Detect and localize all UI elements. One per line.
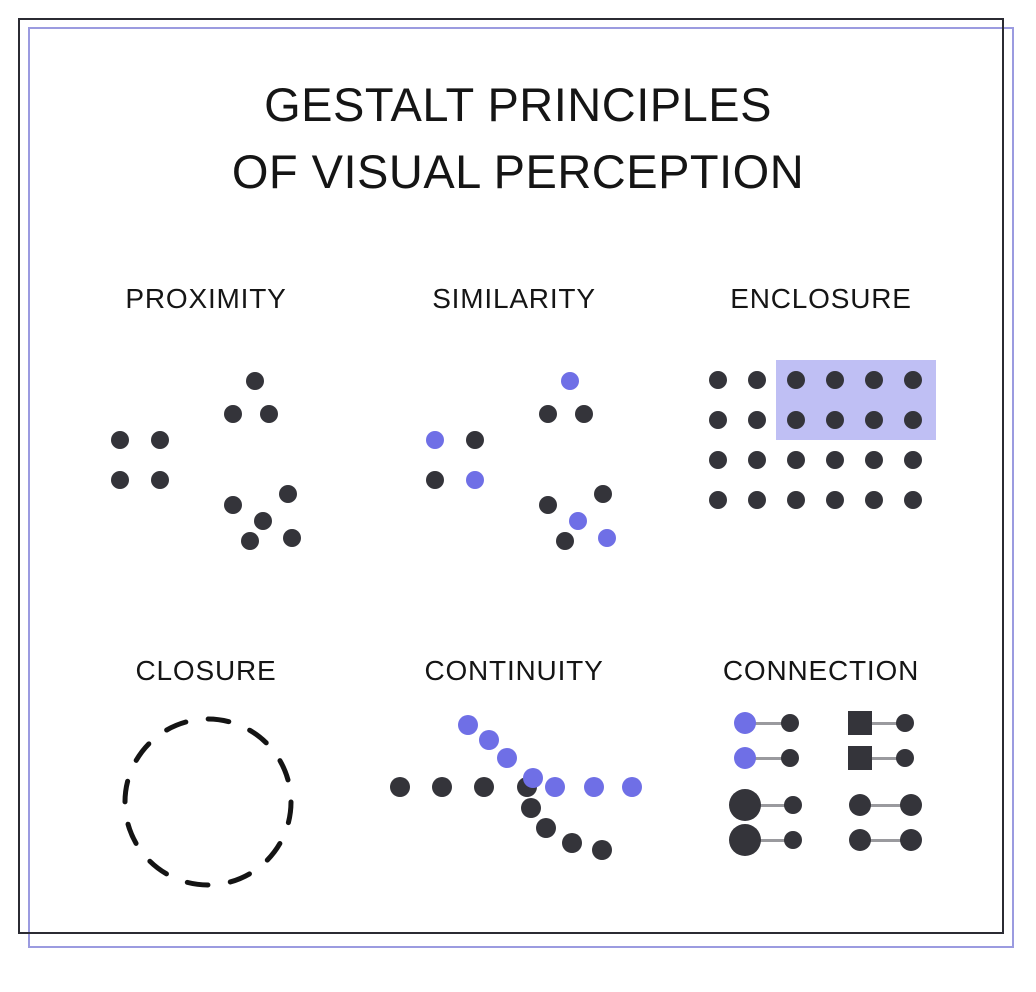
dot-dark xyxy=(539,496,557,514)
dot-dark xyxy=(865,411,883,429)
dot-dark xyxy=(390,777,410,797)
title-line-1: GESTALT PRINCIPLES xyxy=(0,72,1036,139)
square-dark xyxy=(848,746,872,770)
dot-dark xyxy=(279,485,297,503)
section-label-enclosure: ENCLOSURE xyxy=(621,283,1021,315)
dot-dark xyxy=(781,714,799,732)
figure-similarity xyxy=(410,355,650,565)
closure-dashed-circle xyxy=(110,700,310,905)
dot-dark xyxy=(787,451,805,469)
square-dark xyxy=(848,711,872,735)
dot-dark xyxy=(900,829,922,851)
dot-dark xyxy=(521,798,541,818)
section-label-connection: CONNECTION xyxy=(621,655,1021,687)
dot-dark xyxy=(224,496,242,514)
dot-dark xyxy=(111,431,129,449)
dot-dark xyxy=(594,485,612,503)
dot-dark xyxy=(254,512,272,530)
dot-dark xyxy=(849,794,871,816)
dot-dark xyxy=(729,824,761,856)
dot-dark xyxy=(904,371,922,389)
dot-dark xyxy=(539,405,557,423)
dot-blue xyxy=(734,747,756,769)
gestalt-poster: GESTALT PRINCIPLES OF VISUAL PERCEPTION … xyxy=(0,0,1036,992)
dot-dark xyxy=(748,451,766,469)
dot-blue xyxy=(584,777,604,797)
dot-dark xyxy=(709,451,727,469)
dot-dark xyxy=(151,471,169,489)
dot-blue xyxy=(426,431,444,449)
dot-dark xyxy=(784,796,802,814)
dot-dark xyxy=(474,777,494,797)
dot-dark xyxy=(826,411,844,429)
dot-dark xyxy=(556,532,574,550)
dot-blue xyxy=(458,715,478,735)
dot-dark xyxy=(865,491,883,509)
dot-dark xyxy=(260,405,278,423)
dot-blue xyxy=(569,512,587,530)
dot-dark xyxy=(865,371,883,389)
dot-blue xyxy=(479,730,499,750)
dot-dark xyxy=(784,831,802,849)
dot-dark xyxy=(224,405,242,423)
dot-blue xyxy=(598,529,616,547)
dot-dark xyxy=(466,431,484,449)
dot-dark xyxy=(787,371,805,389)
dot-dark xyxy=(729,789,761,821)
figure-connection xyxy=(715,700,895,860)
dot-blue xyxy=(497,748,517,768)
dot-dark xyxy=(709,411,727,429)
dot-dark xyxy=(826,451,844,469)
dot-dark xyxy=(787,411,805,429)
dot-blue xyxy=(622,777,642,797)
dot-dark xyxy=(781,749,799,767)
dot-dark xyxy=(709,491,727,509)
dot-dark xyxy=(787,491,805,509)
dot-dark xyxy=(748,371,766,389)
dot-blue xyxy=(466,471,484,489)
figure-enclosure xyxy=(700,360,945,530)
dot-dark xyxy=(904,451,922,469)
dot-dark xyxy=(900,794,922,816)
dot-dark xyxy=(111,471,129,489)
dot-blue xyxy=(734,712,756,734)
dot-dark xyxy=(426,471,444,489)
dot-dark xyxy=(283,529,301,547)
dot-dark xyxy=(246,372,264,390)
dot-dark xyxy=(904,411,922,429)
dot-dark xyxy=(904,491,922,509)
dot-dark xyxy=(562,833,582,853)
dot-dark xyxy=(709,371,727,389)
dot-blue xyxy=(545,777,565,797)
figure-proximity xyxy=(95,355,335,565)
dot-dark xyxy=(826,371,844,389)
dot-dark xyxy=(896,714,914,732)
dot-dark xyxy=(748,491,766,509)
dot-dark xyxy=(865,451,883,469)
dot-dark xyxy=(896,749,914,767)
title-line-2: OF VISUAL PERCEPTION xyxy=(0,139,1036,206)
dot-dark xyxy=(536,818,556,838)
dot-dark xyxy=(432,777,452,797)
figure-continuity xyxy=(380,705,650,870)
dot-dark xyxy=(151,431,169,449)
dot-dark xyxy=(826,491,844,509)
figure-closure xyxy=(110,700,310,905)
page-title: GESTALT PRINCIPLES OF VISUAL PERCEPTION xyxy=(0,72,1036,205)
dot-dark xyxy=(849,829,871,851)
dot-blue xyxy=(523,768,543,788)
dot-dark xyxy=(748,411,766,429)
dot-dark xyxy=(241,532,259,550)
dot-blue xyxy=(561,372,579,390)
dot-dark xyxy=(575,405,593,423)
dot-dark xyxy=(592,840,612,860)
